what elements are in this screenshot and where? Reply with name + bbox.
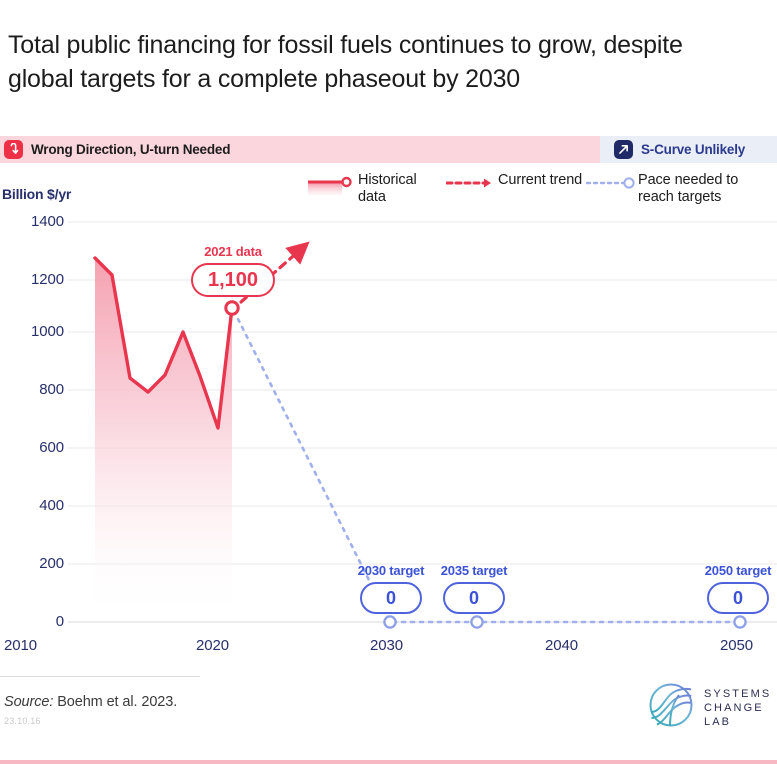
callout-value-2050: 0: [707, 582, 769, 614]
x-tick-2050: 2050: [720, 637, 753, 654]
y-tick-200: 200: [0, 555, 64, 572]
callout-label-2030: 2030 target: [353, 563, 429, 578]
data-point-2021[interactable]: [226, 302, 238, 314]
y-tick-400: 400: [0, 497, 64, 514]
callout-2030-target: 2030 target 0: [353, 563, 429, 614]
datestamp: 23.10.16: [4, 716, 41, 726]
y-tick-600: 600: [0, 439, 64, 456]
callout-label-2035: 2035 target: [436, 563, 512, 578]
source-citation: Boehm et al. 2023.: [57, 694, 177, 710]
logo-line-1: SYSTEMS: [704, 688, 771, 700]
callout-label-2050: 2050 target: [700, 563, 776, 578]
chart-page: Total public financing for fossil fuels …: [0, 0, 777, 764]
y-tick-1400: 1400: [0, 213, 64, 230]
page-title: Total public financing for fossil fuels …: [8, 28, 748, 96]
data-point-2035-target[interactable]: [471, 616, 482, 627]
callout-2021-data: 2021 data 1,100: [180, 244, 286, 297]
data-point-2050-target[interactable]: [734, 616, 745, 627]
historical-area-fill: [95, 258, 232, 622]
status-label-s-curve: S-Curve Unlikely: [641, 142, 745, 157]
status-badge-wrong-direction: Wrong Direction, U-turn Needed: [0, 136, 600, 163]
logo-line-2: CHANGE: [704, 702, 764, 714]
status-banner: Wrong Direction, U-turn Needed S-Curve U…: [0, 136, 777, 163]
callout-2035-target: 2035 target 0: [436, 563, 512, 614]
bottom-accent-bar: [0, 760, 777, 764]
y-tick-1000: 1000: [0, 323, 64, 340]
data-point-2030-target[interactable]: [384, 616, 395, 627]
y-tick-1200: 1200: [0, 271, 64, 288]
source-text: Source: Boehm et al. 2023.: [4, 694, 177, 710]
y-tick-0: 0: [0, 613, 64, 630]
logo-line-3: LAB: [704, 716, 731, 728]
logo-circle-icon: [648, 682, 694, 733]
callout-2050-target: 2050 target 0: [700, 563, 776, 614]
x-tick-2010: 2010: [4, 637, 37, 654]
u-turn-down-arrow-icon: [4, 140, 23, 159]
logo-wordmark: SYSTEMS CHANGE LAB: [704, 687, 771, 729]
footer-divider: [0, 676, 200, 677]
callout-value-2021: 1,100: [191, 263, 275, 297]
status-badge-s-curve: S-Curve Unlikely: [600, 136, 777, 163]
callout-value-2035: 0: [443, 582, 505, 614]
y-tick-800: 800: [0, 381, 64, 398]
source-prefix: Source:: [4, 694, 53, 710]
x-tick-2030: 2030: [370, 637, 403, 654]
callout-value-2030: 0: [360, 582, 422, 614]
callout-label-2021: 2021 data: [180, 244, 286, 259]
x-tick-2040: 2040: [545, 637, 578, 654]
x-tick-2020: 2020: [196, 637, 229, 654]
diagonal-up-arrow-icon: [614, 140, 633, 159]
status-label-wrong-direction: Wrong Direction, U-turn Needed: [31, 142, 230, 157]
systems-change-lab-logo: SYSTEMS CHANGE LAB: [648, 682, 771, 733]
